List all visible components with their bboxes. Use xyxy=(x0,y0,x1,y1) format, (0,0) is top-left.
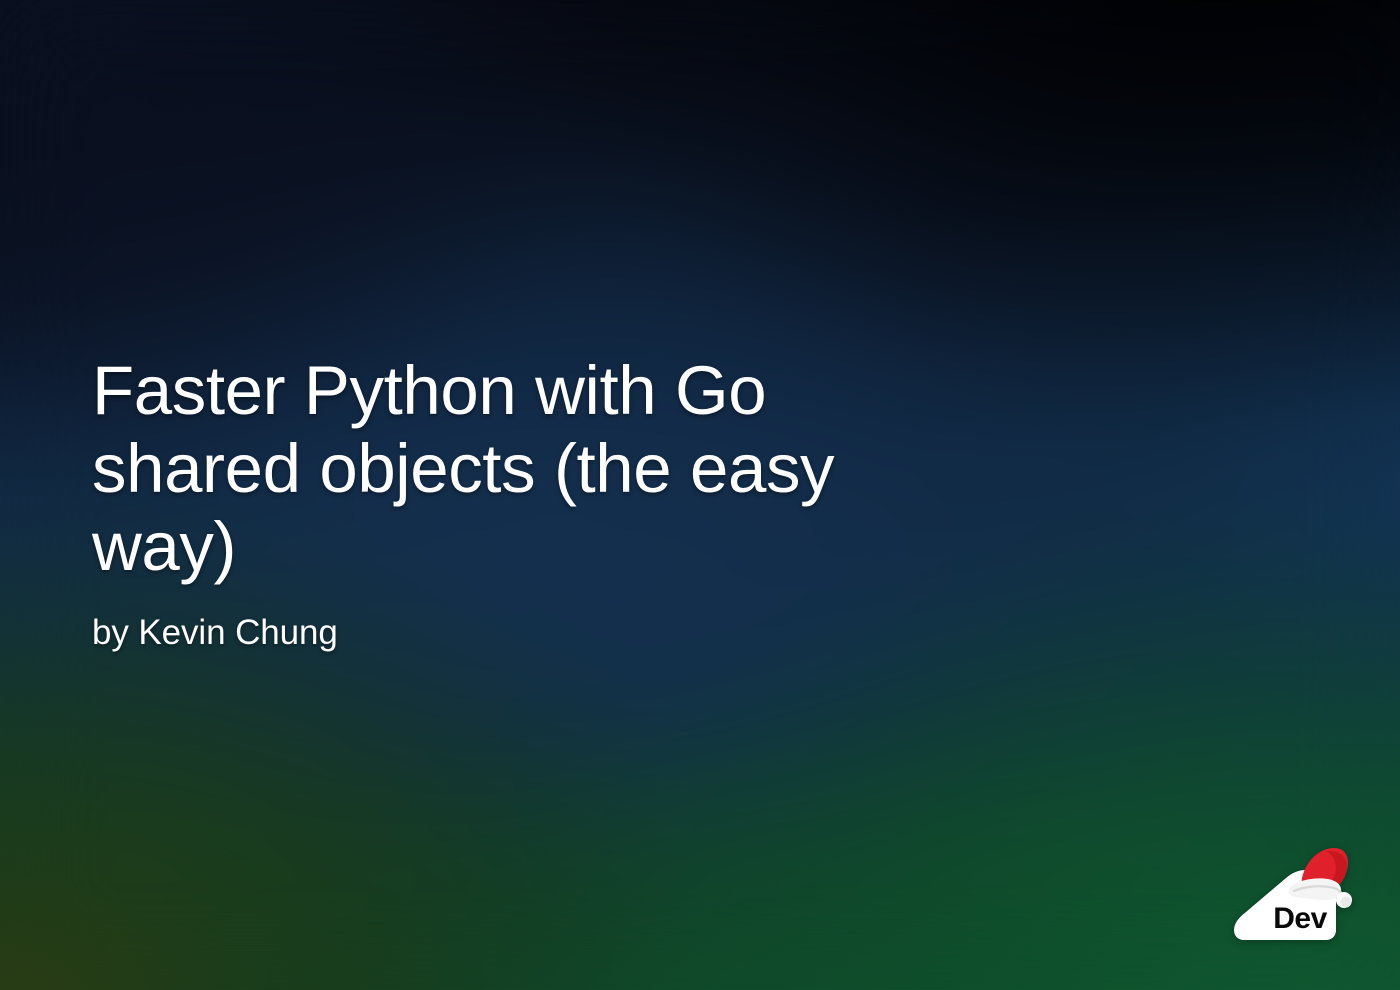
cover-text-block: Faster Python with Go shared objects (th… xyxy=(92,352,952,654)
page-title: Faster Python with Go shared objects (th… xyxy=(92,352,952,586)
author-byline: by Kevin Chung xyxy=(92,612,952,654)
cover-card: Faster Python with Go shared objects (th… xyxy=(0,0,1400,990)
dev-logo-label: Dev xyxy=(1273,902,1327,935)
dev-logo-with-santa-hat-icon[interactable]: Dev xyxy=(1230,844,1352,948)
